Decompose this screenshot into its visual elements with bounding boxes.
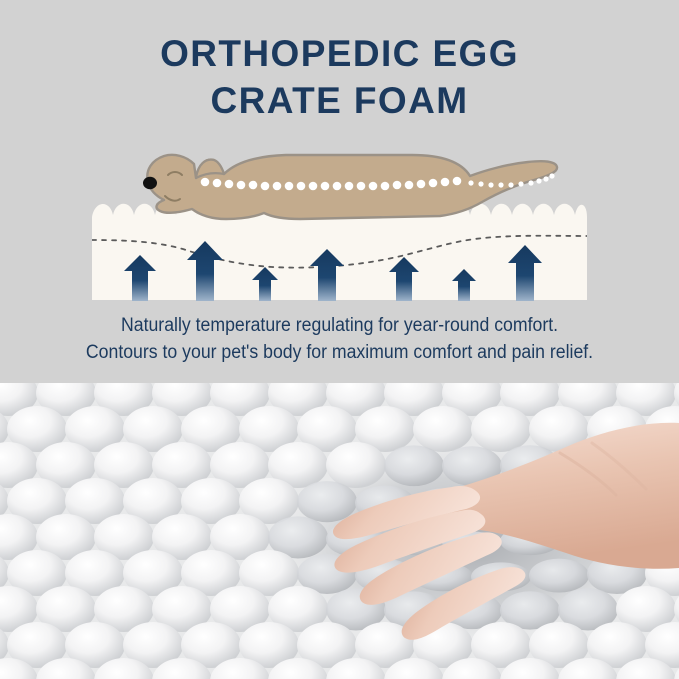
dog-nose xyxy=(143,177,157,189)
product-feature-infographic: ORTHOPEDIC EGG CRATE FOAM xyxy=(0,0,679,679)
caption: Naturally temperature regulating for yea… xyxy=(0,312,679,366)
info-panel: ORTHOPEDIC EGG CRATE FOAM xyxy=(0,0,679,383)
caption-line-2: Contours to your pet's body for maximum … xyxy=(24,339,655,366)
page-title: ORTHOPEDIC EGG CRATE FOAM xyxy=(0,30,679,124)
title-line-2: CRATE FOAM xyxy=(0,77,679,124)
foam-photo xyxy=(0,383,679,679)
caption-line-1: Naturally temperature regulating for yea… xyxy=(24,312,655,339)
foam-support-diagram xyxy=(0,118,679,308)
title-line-1: ORTHOPEDIC EGG xyxy=(0,30,679,77)
